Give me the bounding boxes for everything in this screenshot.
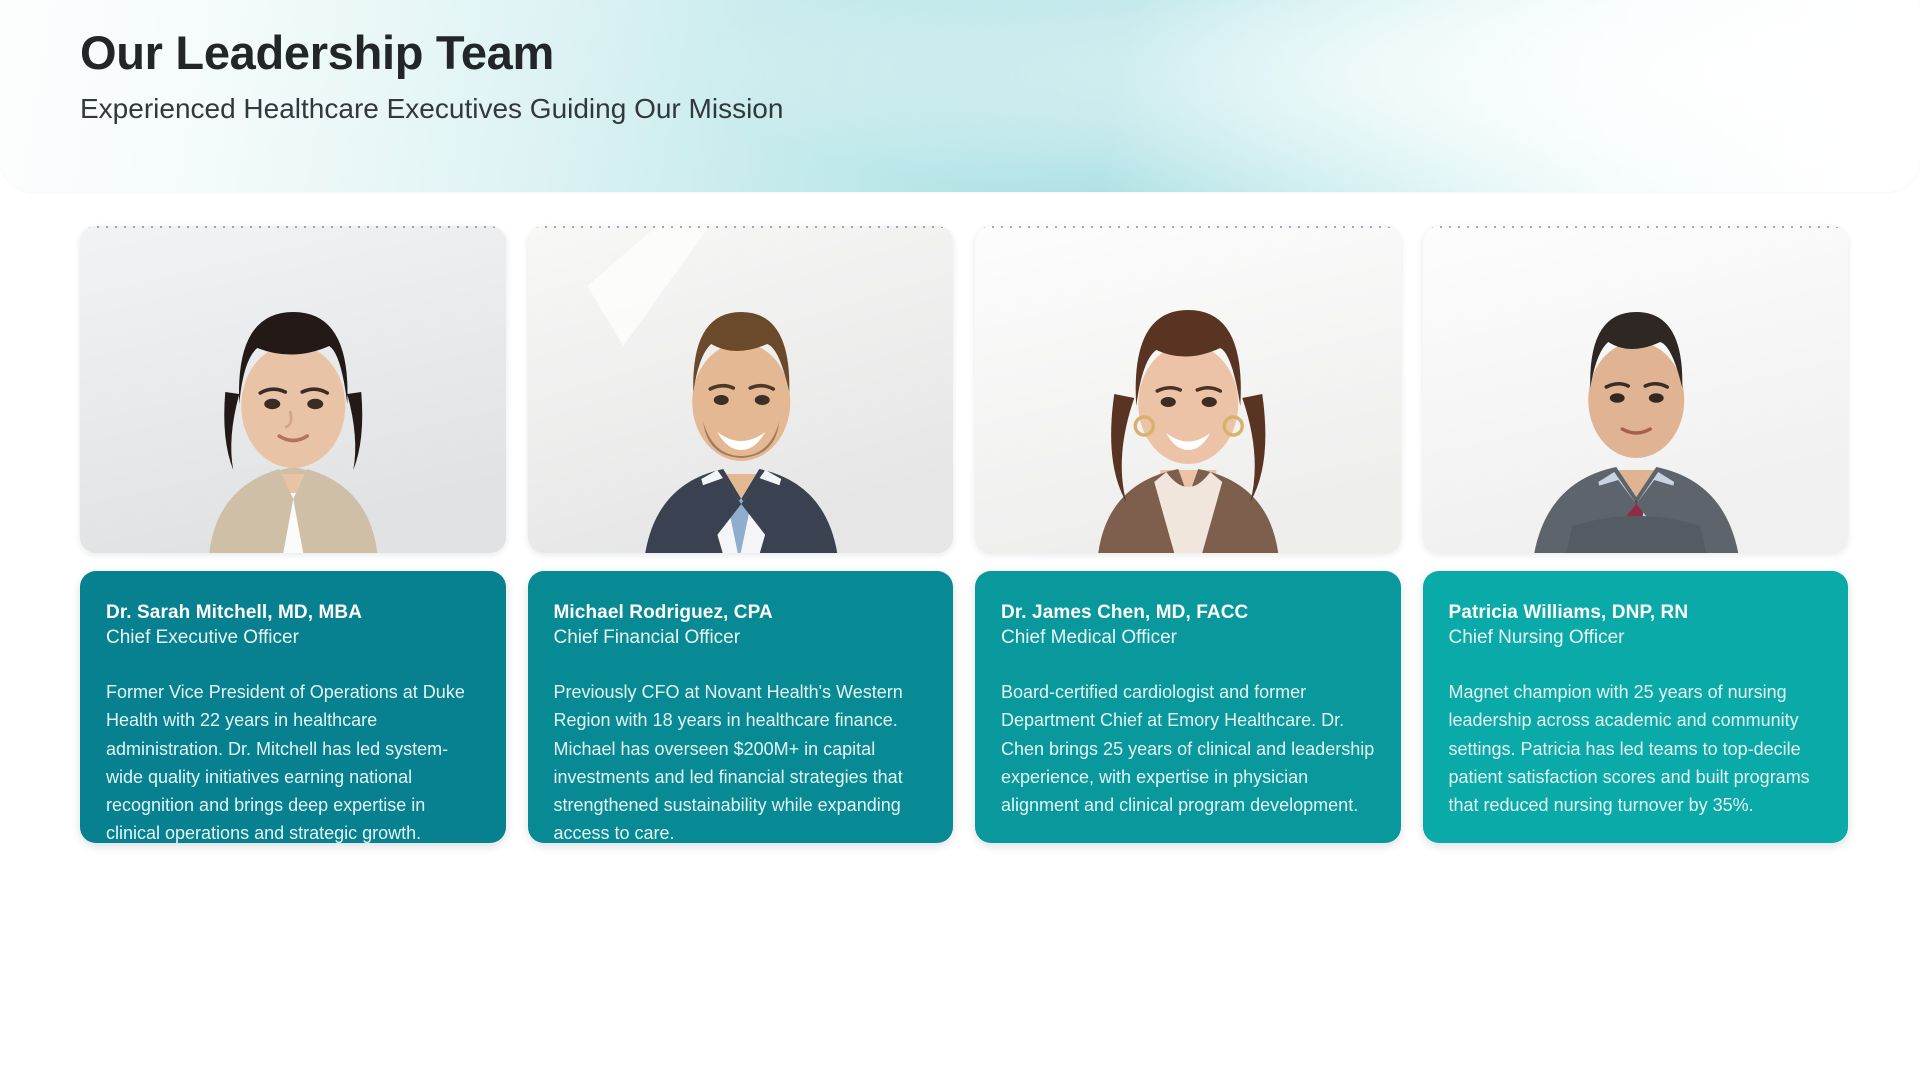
person-info-block: Dr. Sarah Mitchell, MD, MBA Chief Execut…: [80, 571, 506, 843]
slide-canvas: Our Leadership Team Experienced Healthca…: [0, 0, 1920, 1080]
person-photo-3: [975, 226, 1401, 553]
person-name: Dr. James Chen, MD, FACC: [1001, 601, 1375, 625]
photo-top-dotted-edge: [983, 226, 1393, 228]
person-name: Patricia Williams, DNP, RN: [1449, 601, 1823, 625]
person-bio: Magnet champion with 25 years of nursing…: [1449, 678, 1823, 819]
portrait-illustration-icon: [975, 226, 1401, 553]
photo-top-dotted-edge: [536, 226, 946, 228]
page-title: Our Leadership Team: [80, 28, 783, 79]
person-bio: Former Vice President of Operations at D…: [106, 678, 480, 843]
person-photo-4: [1423, 226, 1849, 553]
person-info-block: Michael Rodriguez, CPA Chief Financial O…: [528, 571, 954, 843]
person-card[interactable]: Dr. James Chen, MD, FACC Chief Medical O…: [975, 226, 1401, 843]
person-name: Michael Rodriguez, CPA: [554, 601, 928, 625]
header-text-group: Our Leadership Team Experienced Healthca…: [80, 28, 783, 125]
photo-top-dotted-edge: [88, 226, 498, 228]
person-card[interactable]: Dr. Sarah Mitchell, MD, MBA Chief Execut…: [80, 226, 506, 843]
person-photo-2: [528, 226, 954, 553]
person-info-block: Dr. James Chen, MD, FACC Chief Medical O…: [975, 571, 1401, 843]
person-info-block: Patricia Williams, DNP, RN Chief Nursing…: [1423, 571, 1849, 843]
portrait-illustration-icon: [528, 226, 954, 553]
person-photo-1: [80, 226, 506, 553]
page-subtitle: Experienced Healthcare Executives Guidin…: [80, 93, 783, 125]
portrait-illustration-icon: [80, 226, 506, 553]
portrait-illustration-icon: [1423, 226, 1849, 553]
leadership-cards-row: Dr. Sarah Mitchell, MD, MBA Chief Execut…: [80, 226, 1848, 843]
person-card[interactable]: Patricia Williams, DNP, RN Chief Nursing…: [1423, 226, 1849, 843]
person-bio: Board-certified cardiologist and former …: [1001, 678, 1375, 819]
person-role: Chief Executive Officer: [106, 626, 480, 651]
person-role: Chief Nursing Officer: [1449, 626, 1823, 651]
person-role: Chief Financial Officer: [554, 626, 928, 651]
person-role: Chief Medical Officer: [1001, 626, 1375, 651]
header-banner: Our Leadership Team Experienced Healthca…: [0, 0, 1920, 192]
person-name: Dr. Sarah Mitchell, MD, MBA: [106, 601, 480, 625]
person-card[interactable]: Michael Rodriguez, CPA Chief Financial O…: [528, 226, 954, 843]
person-bio: Previously CFO at Novant Health's Wester…: [554, 678, 928, 843]
photo-top-dotted-edge: [1431, 226, 1841, 228]
